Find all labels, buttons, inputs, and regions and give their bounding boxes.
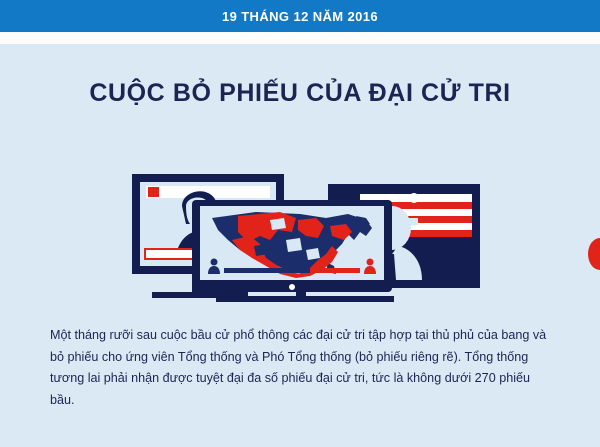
election-illustration (120, 162, 490, 312)
red-circle-edge-accent (588, 238, 600, 270)
body-paragraph: Một tháng rưỡi sau cuộc bầu cử phổ thông… (50, 325, 555, 412)
page-title: CUỘC BỎ PHIẾU CỦA ĐẠI CỬ TRI (0, 80, 600, 108)
band-gap-divider (0, 32, 600, 44)
center-monitor (192, 200, 394, 302)
content-area: CUỘC BỎ PHIẾU CỦA ĐẠI CỬ TRI (0, 44, 600, 447)
date-band: 19 THÁNG 12 NĂM 2016 (0, 0, 600, 32)
date-label: 19 THÁNG 12 NĂM 2016 (222, 10, 378, 23)
infographic-page: 19 THÁNG 12 NĂM 2016 CUỘC BỎ PHIẾU CỦA Đ… (0, 0, 600, 447)
